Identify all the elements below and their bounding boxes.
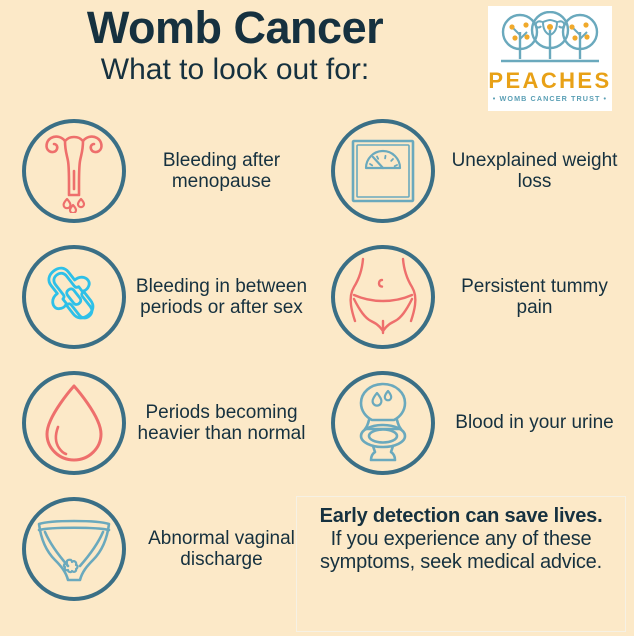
uterus-icon <box>37 129 111 213</box>
peaches-tree-logo-icon <box>495 11 605 69</box>
symptom-item-abnormal-discharge: Abnormal vaginal discharge <box>0 486 317 612</box>
logo-tagline: • WOMB CANCER TRUST • <box>493 95 607 102</box>
symptom-item-persistent-tummy-pain: Persistent tummy pain <box>317 234 634 360</box>
symptom-label: Blood in your urine <box>435 412 634 433</box>
logo-wordmark: PEACHES <box>488 70 611 92</box>
icon-circle <box>331 119 435 223</box>
symptom-label: Bleeding after menopause <box>126 150 317 193</box>
symptom-label: Bleeding in between periods or after sex <box>126 276 317 319</box>
torso-tummy-icon <box>341 255 425 339</box>
callout-body: If you experience any of these symptoms,… <box>297 528 625 574</box>
icon-circle <box>331 245 435 349</box>
callout-headline: Early detection can save lives. <box>320 505 603 527</box>
icon-circle <box>331 371 435 475</box>
weight-scale-icon <box>347 135 419 207</box>
symptom-item-bleeding-between-periods: Bleeding in between periods or after sex <box>0 234 317 360</box>
early-detection-callout: Early detection can save lives. If you e… <box>296 496 626 632</box>
blood-drop-icon <box>41 382 107 464</box>
symptom-label: Abnormal vaginal discharge <box>126 528 317 571</box>
symptom-item-unexplained-weight-loss: Unexplained weight loss <box>317 108 634 234</box>
page-subtitle: What to look out for: <box>0 53 470 86</box>
page-title: Womb Cancer <box>0 4 470 51</box>
symptom-label: Periods becoming heavier than normal <box>126 402 317 445</box>
title-block: Womb Cancer What to look out for: <box>0 4 470 86</box>
symptom-row: Bleeding in between periods or after sex… <box>0 234 634 360</box>
icon-circle <box>22 245 126 349</box>
icon-circle <box>22 119 126 223</box>
symptom-item-bleeding-after-menopause: Bleeding after menopause <box>0 108 317 234</box>
symptom-item-heavier-periods: Periods becoming heavier than normal <box>0 360 317 486</box>
toilet-icon <box>347 380 419 466</box>
icon-circle <box>22 371 126 475</box>
symptom-label: Unexplained weight loss <box>435 150 634 193</box>
underwear-icon <box>33 514 115 584</box>
symptom-item-blood-in-urine: Blood in your urine <box>317 360 634 486</box>
header: Womb Cancer What to look out for: <box>0 0 634 108</box>
peaches-logo: PEACHES • WOMB CANCER TRUST • <box>488 6 612 111</box>
symptom-row: Periods becoming heavier than normal <box>0 360 634 486</box>
icon-circle <box>22 497 126 601</box>
symptom-label: Persistent tummy pain <box>435 276 634 319</box>
sanitary-pad-icon <box>35 258 113 336</box>
symptom-row: Bleeding after menopause <box>0 108 634 234</box>
